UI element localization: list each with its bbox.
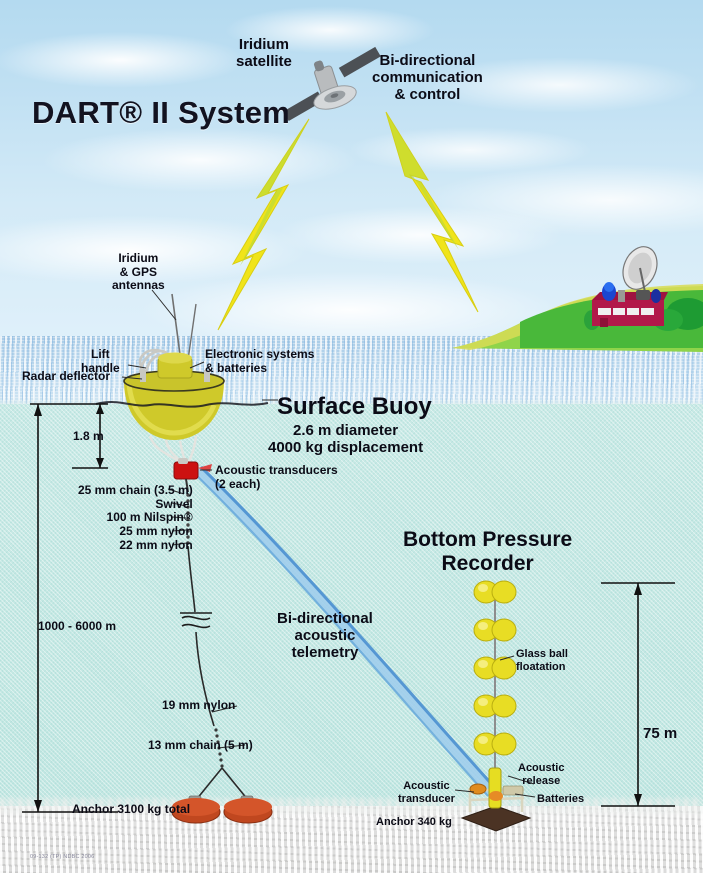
freeboard-depth-label: 1.8 m [73,430,104,444]
surface-anchor-label: Anchor 3100 kg total [72,803,190,817]
satellite-label: Iridium satellite [236,36,292,70]
bidirectional-comm-label: Bi-directional communication & control [372,52,483,103]
surface-buoy-title: Surface Buoy [277,393,432,420]
electronic-systems-label: Electronic systems & batteries [205,348,314,375]
dart-diagram: DART® II System Iridium satellite Bi-dir… [0,0,703,873]
mooring-components-label: 25 mm chain (3.5 m) Swivel 100 m Nilspin… [78,484,193,552]
antennas-label: Iridium & GPS antennas [112,252,165,293]
bpr-acoustic-transducer-label: Acoustic transducer [398,780,455,805]
bpr-anchor-label: Anchor 340 kg [376,816,452,829]
bpr-title: Bottom Pressure Recorder [403,528,572,576]
nylon-19mm-label: 19 mm nylon [162,699,235,713]
batteries-label: Batteries [537,793,584,806]
surface-buoy-specs: 2.6 m diameter4000 kg displacement [268,422,423,456]
glass-ball-label: Glass ball floatation [516,648,568,673]
bpr-height-label: 75 m [643,725,677,742]
acoustic-release-label: Acoustic release [518,762,564,787]
chain-13mm-label: 13 mm chain (5 m) [148,739,253,753]
credit-line: 09-132 (TP) NDBC 2006 [30,854,94,860]
sky-background [0,0,703,340]
acoustic-transducers-label: Acoustic transducers (2 each) [215,464,338,491]
acoustic-telemetry-label: Bi-directional acoustic telemetry [277,610,373,661]
radar-deflector-label: Radar deflector [22,370,110,384]
buoy-displacement-spec: 4000 kg displacement [268,439,423,456]
depth-range-label: 1000 - 6000 m [38,620,116,634]
buoy-diameter-spec: 2.6 m diameter [293,422,398,439]
page-title: DART® II System [32,96,290,131]
